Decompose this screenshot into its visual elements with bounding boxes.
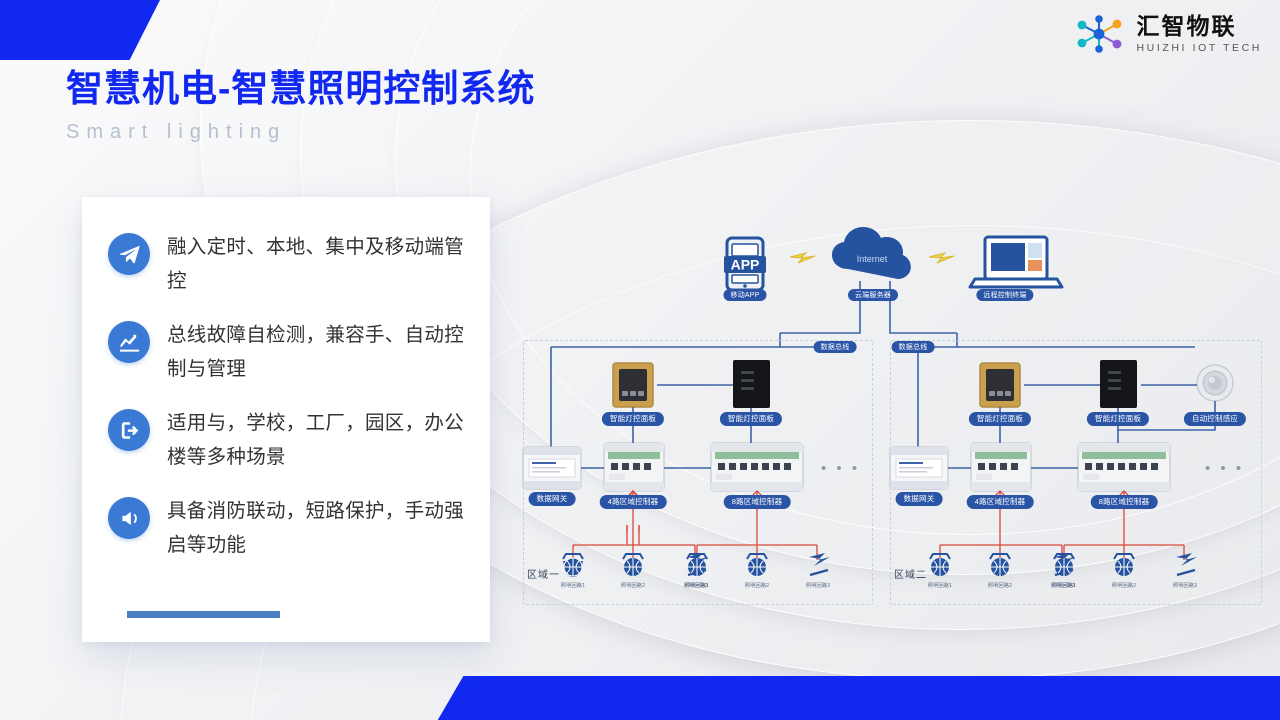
feature-text-4: 具备消防联动，短路保护，手动强启等功能 xyxy=(167,495,467,562)
ellipsis-zone1: • • • xyxy=(821,461,860,476)
page-title: 智慧机电-智慧照明控制系统 xyxy=(66,68,535,111)
svg-text:Internet: Internet xyxy=(857,254,888,264)
zone-name-2: 区域二 xyxy=(894,566,927,581)
megaphone-icon xyxy=(108,497,150,539)
circuit-label-z2-4: 照明回路1 xyxy=(1052,582,1076,589)
label-controller-4ch-zone1: 4路区域控制器 xyxy=(600,495,667,509)
zone-name-1: 区域一 xyxy=(527,566,560,581)
circuit-label-z2-2: 照明回路2 xyxy=(988,582,1012,589)
ellipsis-zone2: • • • xyxy=(1205,461,1244,476)
circuit-label-z1-6: 照明回路3 xyxy=(806,582,830,589)
system-architecture-diagram: APP Internet xyxy=(505,215,1280,615)
label-panel-black-zone2: 智能灯控面板 xyxy=(1087,412,1149,426)
label-panel-black-zone1: 智能灯控面板 xyxy=(720,412,782,426)
feature-text-3: 适用与，学校，工厂，园区，办公楼等多种场景 xyxy=(167,407,467,474)
page-subtitle: Smart lighting xyxy=(66,121,535,144)
circuit-label-z1-2: 照明回路2 xyxy=(621,582,645,589)
circuit-label-z2-6: 照明回路3 xyxy=(1173,582,1197,589)
feature-item-3: 适用与，学校，工厂，园区，办公楼等多种场景 xyxy=(108,407,468,474)
circuit-label-z1-1: 照明回路1 xyxy=(561,582,585,589)
mobile-phone-icon: APP xyxy=(724,238,766,290)
label-mobile-app: 移动APP xyxy=(723,289,766,301)
label-panel-gold-zone2: 智能灯控面板 xyxy=(969,412,1031,426)
logo-name-cn: 汇智物联 xyxy=(1136,15,1262,38)
exit-arrow-icon xyxy=(108,409,150,451)
label-gateway-zone1: 数据网关 xyxy=(529,492,576,506)
label-gateway-zone2: 数据网关 xyxy=(896,492,943,506)
label-cloud-server: 云端服务器 xyxy=(848,289,898,301)
label-data-bus-zone2: 数据总线 xyxy=(892,341,935,353)
card-accent-bar xyxy=(127,611,280,618)
feature-item-1: 融入定时、本地、集中及移动端管控 xyxy=(108,231,468,298)
circuit-label-z2-5: 照明回路2 xyxy=(1112,582,1136,589)
feature-text-2: 总线故障自检测，兼容手、自动控制与管理 xyxy=(167,319,467,386)
paper-plane-icon xyxy=(108,233,150,275)
feature-text-1: 融入定时、本地、集中及移动端管控 xyxy=(167,231,467,298)
svg-text:APP: APP xyxy=(731,257,760,273)
cloud-icon: Internet xyxy=(832,227,911,279)
label-controller-4ch-zone2: 4路区域控制器 xyxy=(967,495,1034,509)
label-controller-8ch-zone1: 8路区域控制器 xyxy=(724,495,791,509)
feature-item-4: 具备消防联动，短路保护，手动强启等功能 xyxy=(108,495,468,562)
label-remote-terminal: 远程控制终端 xyxy=(976,289,1033,301)
label-data-bus-zone1: 数据总线 xyxy=(814,341,857,353)
page-header: 智慧机电-智慧照明控制系统 Smart lighting xyxy=(66,68,535,144)
label-panel-gold-zone1: 智能灯控面板 xyxy=(602,412,664,426)
lightning-bolt-icon-left xyxy=(790,253,815,263)
circuit-label-z2-1: 照明回路1 xyxy=(928,582,952,589)
feature-item-2: 总线故障自检测，兼容手、自动控制与管理 xyxy=(108,319,468,386)
label-auto-sensor-zone2: 自动控制感应 xyxy=(1184,412,1246,426)
feature-list: 融入定时、本地、集中及移动端管控 总线故障自检测，兼容手、自动控制与管理 适用与… xyxy=(82,197,490,562)
lightning-bolt-icon-right xyxy=(929,253,954,263)
logo-name-en: HUIZHI IOT TECH xyxy=(1136,43,1262,54)
chart-trend-icon xyxy=(108,321,150,363)
molecule-network-icon xyxy=(1072,14,1128,54)
brand-logo: 汇智物联 HUIZHI IOT TECH xyxy=(1072,14,1262,54)
circuit-label-z1-5: 照明回路2 xyxy=(745,582,769,589)
feature-card: 融入定时、本地、集中及移动端管控 总线故障自检测，兼容手、自动控制与管理 适用与… xyxy=(82,197,490,642)
label-controller-8ch-zone2: 8路区域控制器 xyxy=(1091,495,1158,509)
laptop-icon xyxy=(970,237,1062,287)
circuit-label-z1-4: 照明回路1 xyxy=(685,582,709,589)
